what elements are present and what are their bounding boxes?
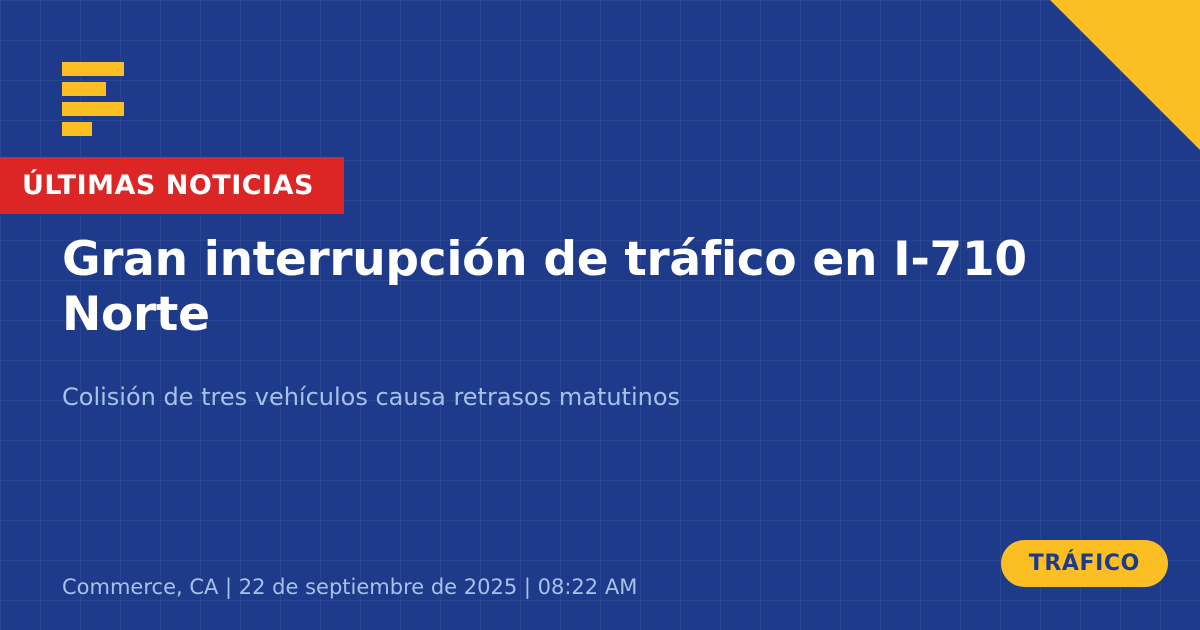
category-badge-label: TRÁFICO: [1029, 551, 1140, 576]
breaking-news-label: ÚLTIMAS NOTICIAS: [22, 170, 314, 201]
logo-bar-3: [62, 102, 124, 116]
breaking-news-badge: ÚLTIMAS NOTICIAS: [0, 157, 344, 214]
logo-bar-2: [62, 82, 106, 96]
news-banner: ÚLTIMAS NOTICIAS Gran interrupción de tr…: [0, 0, 1200, 630]
news-logo: [62, 62, 152, 136]
logo-bar-4: [62, 122, 92, 136]
headline-line-1: Gran interrupción de tráfico en I-710: [62, 232, 1027, 287]
corner-wedge-icon: [1050, 0, 1200, 150]
logo-bar-1: [62, 62, 124, 76]
subtitle: Colisión de tres vehículos causa retraso…: [62, 382, 962, 413]
meta-line: Commerce, CA | 22 de septiembre de 2025 …: [62, 575, 637, 599]
category-badge: TRÁFICO: [1001, 540, 1168, 587]
page-title: Gran interrupción de tráfico en I-710 No…: [62, 232, 1122, 343]
headline-line-2: Norte: [62, 287, 210, 342]
